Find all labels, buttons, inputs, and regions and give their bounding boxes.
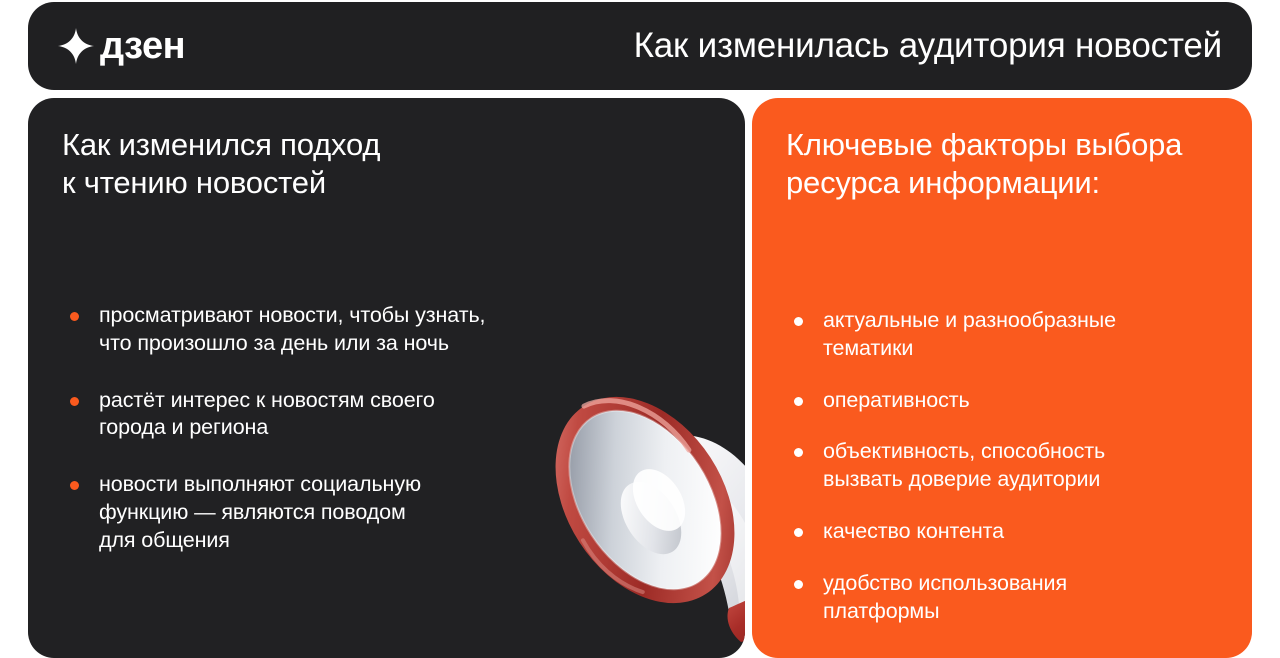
left-card-content: Как изменился подход к чтению новостей п… (28, 98, 745, 555)
slide-root: дзен Как изменилась аудитория новостей (0, 0, 1280, 650)
list-item: оперативность (786, 387, 1218, 415)
list-item: актуальные и разнообразные тематики (786, 307, 1218, 363)
list-item: растёт интерес к новостям своего города … (62, 387, 711, 443)
right-card-heading: Ключевые факторы выбора ресурса информац… (786, 126, 1218, 202)
dzen-logo[interactable]: дзен (56, 26, 185, 66)
left-card-bullet-list: просматривают новости, чтобы узнать, что… (62, 302, 711, 556)
left-card: Как изменился подход к чтению новостей п… (28, 98, 745, 658)
page-title: Как изменилась аудитория новостей (185, 27, 1222, 66)
right-card: Ключевые факторы выбора ресурса информац… (752, 98, 1252, 658)
sparkle-star-icon (56, 26, 96, 66)
dzen-logo-text: дзен (100, 27, 185, 65)
left-card-heading: Как изменился подход к чтению новостей (62, 126, 711, 202)
list-item: объективность, способность вызвать довер… (786, 438, 1218, 494)
list-item: удобство использования платформы (786, 570, 1218, 626)
list-item: новости выполняют социальную функцию — я… (62, 471, 711, 555)
cards-row: Как изменился подход к чтению новостей п… (28, 98, 1252, 658)
list-item: качество контента (786, 518, 1218, 546)
header-bar: дзен Как изменилась аудитория новостей (28, 2, 1252, 90)
right-card-content: Ключевые факторы выбора ресурса информац… (752, 98, 1252, 626)
right-card-bullet-list: актуальные и разнообразные тематики опер… (786, 307, 1218, 627)
list-item: просматривают новости, чтобы узнать, что… (62, 302, 711, 358)
